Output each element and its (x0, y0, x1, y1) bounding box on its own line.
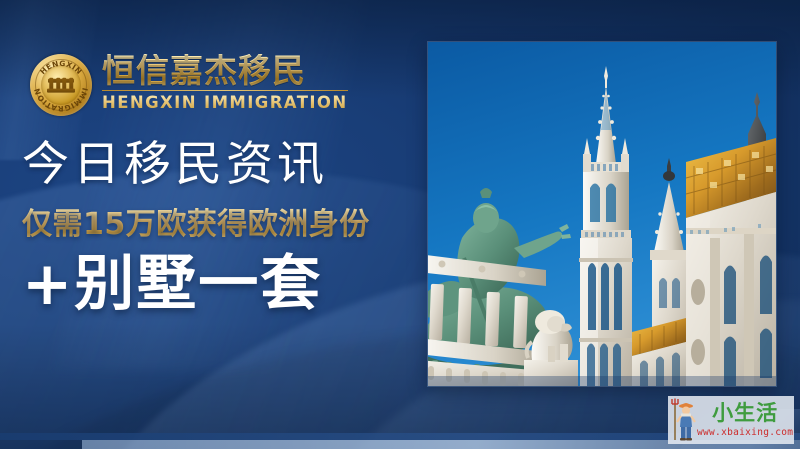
hero-photo (428, 42, 776, 386)
farmer-with-pitchfork-icon (671, 398, 697, 442)
svg-text:HENGXIN: HENGXIN (38, 59, 84, 76)
poster-canvas: HENGXIN IMMIGRATION 恒信嘉杰移民 HENGXIN IMMIG… (0, 0, 800, 449)
gold-coin-columns-icon: HENGXIN IMMIGRATION (30, 54, 92, 116)
brand-divider (102, 90, 348, 91)
page-title: 今日移民资讯 (22, 140, 422, 191)
svg-text:IMMIGRATION: IMMIGRATION (32, 87, 89, 113)
site-watermark: 小生活 www.xbaixing.com (668, 396, 794, 444)
headline-subtitle: 仅需15万欧获得欧洲身份 (22, 208, 422, 241)
watermark-url: www.xbaixing.com (697, 427, 793, 438)
watermark-brand: 小生活 (697, 403, 793, 424)
headline-offer: +别墅一套 (22, 253, 422, 317)
headline-block: 今日移民资讯 仅需15万欧获得欧洲身份 +别墅一套 (22, 140, 422, 316)
brand-logo: HENGXIN IMMIGRATION 恒信嘉杰移民 HENGXIN IMMIG… (30, 52, 348, 116)
photo-illustration (428, 42, 776, 386)
brand-name-en: HENGXIN IMMIGRATION (102, 93, 348, 112)
brand-name-cn: 恒信嘉杰移民 (102, 54, 348, 88)
